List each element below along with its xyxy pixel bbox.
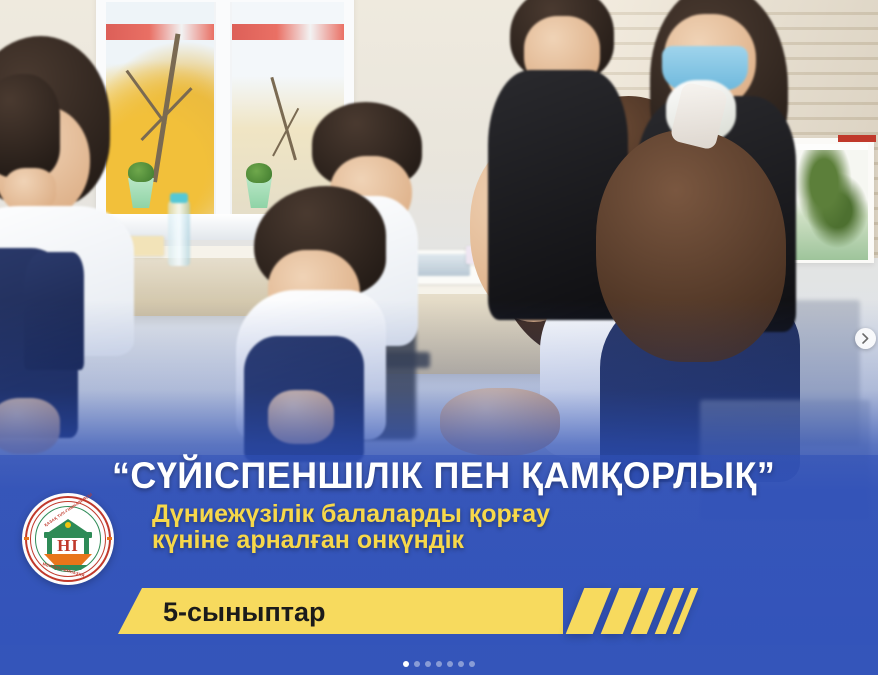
window-red-trim [838,135,876,142]
carousel-slide[interactable]: “СҮЙІСПЕНШІЛІК ПЕН ҚАМҚОРЛЫҚ” Дүниежүзіл… [0,0,878,675]
carousel-dot-2[interactable] [414,661,420,667]
carousel-dot-3[interactable] [425,661,431,667]
carousel-dot-7[interactable] [469,661,475,667]
bottle-cap [170,193,188,203]
window-pane-left [106,2,214,220]
chevron-right-icon [861,333,870,344]
carousel-dot-4[interactable] [436,661,442,667]
emblem-ring-text-bottom: МЕКТЕП-ГИМНАЗИЯ [42,561,85,578]
slide-title: “СҮЙІСПЕНШІЛІК ПЕН ҚАМҚОРЛЫҚ” [112,455,775,497]
water-bottle [168,200,190,266]
window-mullion [216,0,230,232]
carousel-dots[interactable] [0,658,878,670]
next-slide-button[interactable] [855,328,876,349]
carousel-dot-5[interactable] [447,661,453,667]
grade-ribbon-label: 5-сыныптар [163,597,326,628]
carousel-dot-1[interactable] [403,661,409,667]
side-window-plant [788,150,868,260]
slide-subtitle: Дүниежүзілік балаларды қорғау күніне арн… [152,501,550,553]
subtitle-line-1: Дүниежүзілік балаларды қорғау [152,500,550,528]
emblem-ring-text-top: ҚАЗАҚ ТІЛІ-ГИМНАЗИЯСЫ [43,492,93,528]
subtitle-line-2: күніне арналған онкүндік [152,527,550,553]
emblem-ring-text: ҚАЗАҚ ТІЛІ-ГИМНАЗИЯСЫ МЕКТЕП-ГИМНАЗИЯ [22,493,114,585]
plant-leaves [246,163,272,183]
school-emblem-logo: НІ ҚАЗАҚ ТІЛІ-ГИМНАЗИЯСЫ МЕКТЕП-ГИМНАЗИЯ [22,493,114,585]
plant-leaves [128,162,154,182]
carousel-dot-6[interactable] [458,661,464,667]
